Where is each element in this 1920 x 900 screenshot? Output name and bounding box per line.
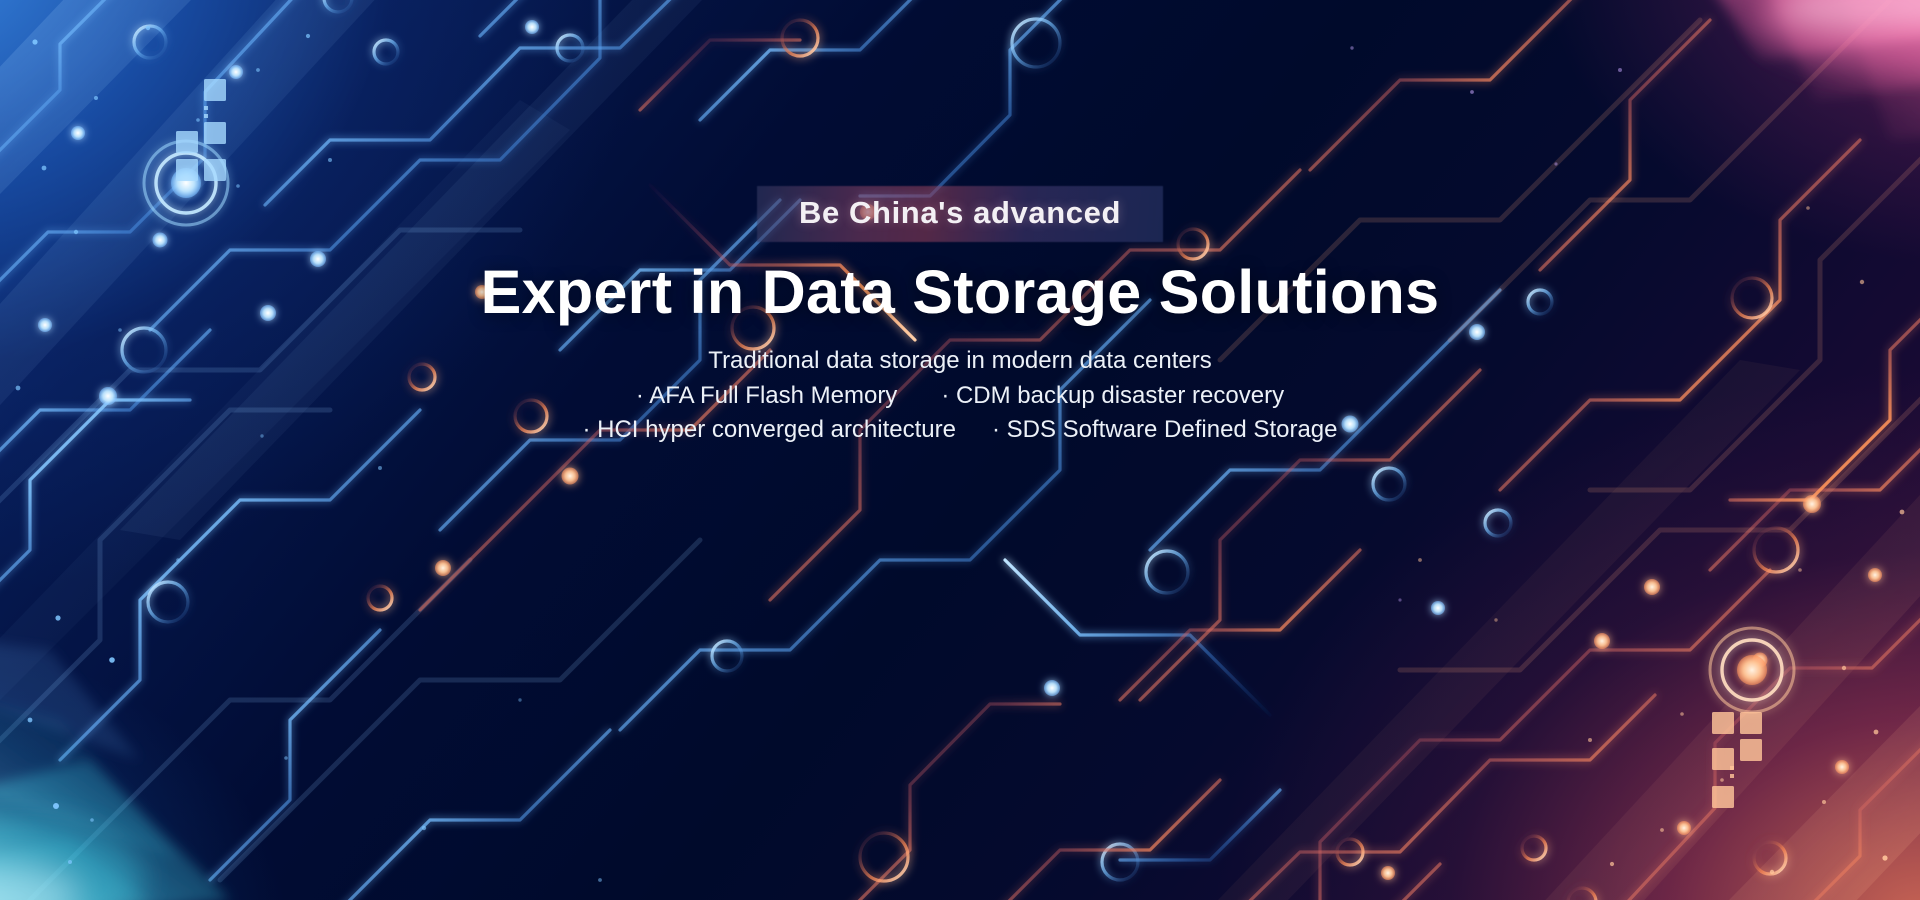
feature-item-afa: · AFA Full Flash Memory <box>636 381 897 412</box>
subtitle: Traditional data storage in modern data … <box>708 346 1211 376</box>
hero-banner: Be China's advanced Expert in Data Stora… <box>0 0 1920 900</box>
feature-item-cdm: · CDM backup disaster recovery <box>941 381 1284 412</box>
eyebrow-badge: Be China's advanced <box>757 186 1163 242</box>
hero-content: Be China's advanced Expert in Data Stora… <box>0 0 1920 900</box>
feature-row-1: · AFA Full Flash Memory · CDM backup dis… <box>636 381 1284 412</box>
page-title: Expert in Data Storage Solutions <box>481 258 1440 326</box>
feature-item-sds: · SDS Software Defined Storage <box>992 415 1338 446</box>
feature-row-2: · HCI hyper converged architecture · SDS… <box>582 415 1337 446</box>
eyebrow-text: Be China's advanced <box>799 195 1121 231</box>
feature-item-hci: · HCI hyper converged architecture <box>582 415 956 446</box>
